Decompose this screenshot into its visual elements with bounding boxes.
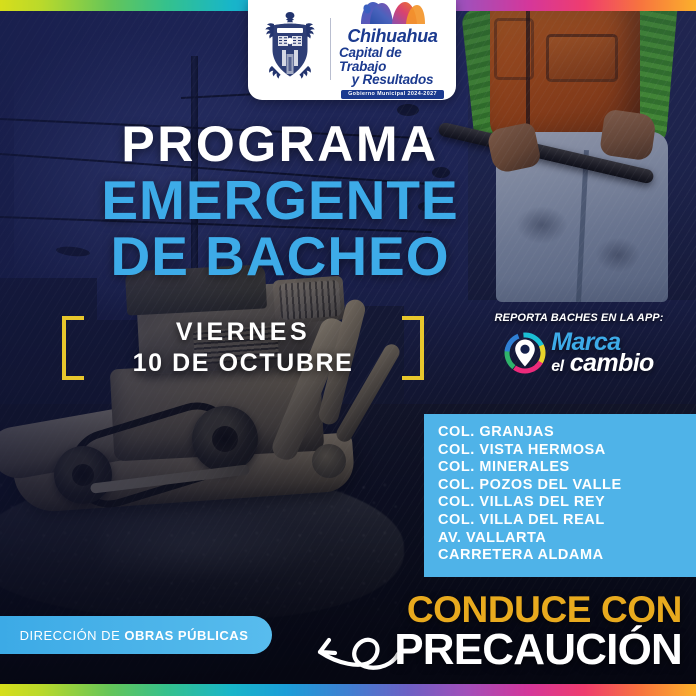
slogan-line-1: CONDUCE CON bbox=[394, 592, 682, 628]
title-line-emergente: EMERGENTE bbox=[0, 172, 560, 228]
department-label-light: DIRECCIÓN DE bbox=[20, 628, 125, 643]
bracket-right-icon bbox=[402, 316, 424, 380]
dust-cloud bbox=[100, 506, 320, 576]
badge-government-label: Gobierno Municipal 2024-2027 bbox=[341, 90, 444, 99]
street-list-item: CARRETERA ALDAMA bbox=[438, 547, 696, 565]
app-logo: Marca el cambio bbox=[466, 331, 692, 375]
app-name-text: Marca el cambio bbox=[551, 331, 653, 375]
rainbow-bar-bottom bbox=[0, 684, 696, 696]
main-title: PROGRAMA EMERGENTE DE BACHEO bbox=[0, 118, 560, 284]
chihuahua-m-mark-icon bbox=[358, 0, 428, 25]
vest-pocket bbox=[546, 34, 618, 82]
title-line-programa: PROGRAMA bbox=[0, 118, 560, 170]
title-line-bacheo: DE BACHEO bbox=[0, 228, 560, 284]
location-pin-icon bbox=[504, 332, 546, 374]
bracket-left-icon bbox=[62, 316, 84, 380]
app-report-label: REPORTA BACHES EN LA APP: bbox=[466, 312, 692, 324]
badge-tagline-2: y Resultados bbox=[352, 73, 434, 87]
worker-hand-right bbox=[599, 109, 657, 162]
app-name-cambio: el cambio bbox=[551, 352, 653, 375]
affected-streets-panel: COL. GRANJAS COL. VISTA HERMOSA COL. MIN… bbox=[424, 414, 696, 577]
pulley-hub bbox=[212, 426, 238, 452]
badge-city-name: Chihuahua bbox=[347, 27, 437, 45]
compactor-joint bbox=[312, 444, 346, 478]
date-full: 10 DE OCTUBRE bbox=[133, 350, 354, 378]
app-name-el: el bbox=[551, 358, 563, 375]
street-list-item: COL. GRANJAS bbox=[438, 424, 696, 442]
chihuahua-coat-of-arms-icon: CHIHUAHUA bbox=[258, 10, 322, 88]
safety-slogan: CONDUCE CON PRECAUCIÓN bbox=[394, 592, 682, 671]
department-badge: DIRECCIÓN DE OBRAS PÚBLICAS bbox=[0, 616, 272, 654]
street-list-item: COL. VILLA DEL REAL bbox=[438, 512, 696, 530]
street-list-item: COL. VISTA HERMOSA bbox=[438, 442, 696, 460]
street-list-item: AV. VALLARTA bbox=[438, 530, 696, 548]
app-name-cambio-word: cambio bbox=[570, 349, 654, 377]
street-list-item: COL. VILLAS DEL REY bbox=[438, 494, 696, 512]
footer: DIRECCIÓN DE OBRAS PÚBLICAS CONDUCE CON … bbox=[0, 588, 696, 684]
department-label-bold: OBRAS PÚBLICAS bbox=[124, 628, 248, 643]
event-date-block: VIERNES 10 DE OCTUBRE bbox=[58, 312, 428, 384]
jeans-stain bbox=[596, 238, 640, 272]
badge-text-group: Chihuahua Capital de Trabajo y Resultado… bbox=[339, 0, 446, 99]
slogan-line-2: PRECAUCIÓN bbox=[394, 628, 682, 671]
poster-canvas: CHIHUAHUA bbox=[0, 0, 696, 696]
government-logo-badge: CHIHUAHUA bbox=[248, 0, 456, 100]
department-label: DIRECCIÓN DE OBRAS PÚBLICAS bbox=[20, 628, 249, 643]
street-list-item: COL. MINERALES bbox=[438, 459, 696, 477]
date-text-group: VIERNES 10 DE OCTUBRE bbox=[133, 319, 354, 377]
pulley-hub bbox=[72, 464, 94, 486]
badge-divider bbox=[330, 18, 331, 80]
app-report-block: REPORTA BACHES EN LA APP: Marca el cambi… bbox=[466, 312, 692, 375]
street-list-item: COL. POZOS DEL VALLE bbox=[438, 477, 696, 495]
svg-text:CHIHUAHUA: CHIHUAHUA bbox=[279, 29, 302, 33]
date-day-name: VIERNES bbox=[133, 319, 354, 347]
badge-tagline-1: Capital de Trabajo bbox=[339, 46, 446, 73]
